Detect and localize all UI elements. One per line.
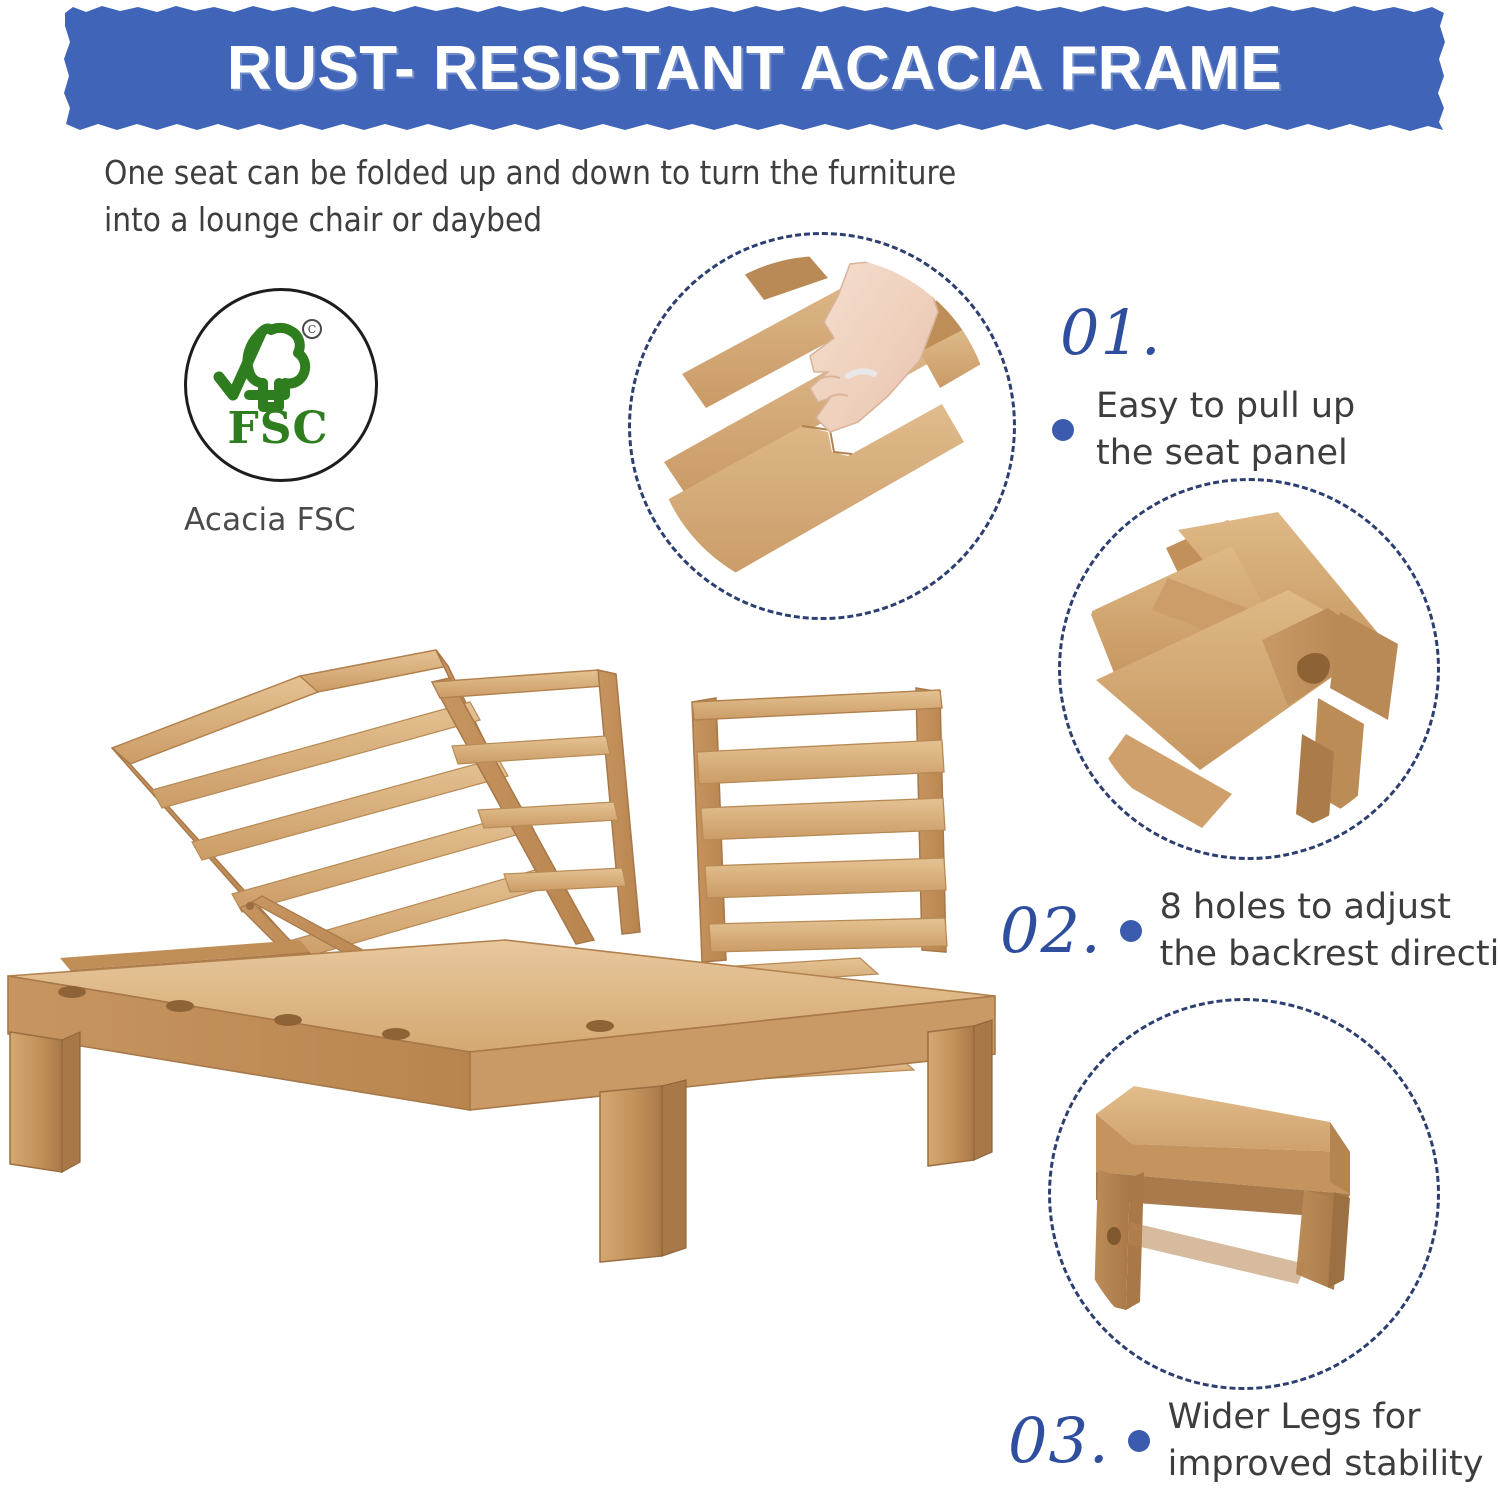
- callout-number-3: 03.: [1008, 1410, 1110, 1472]
- fsc-tree-checkmark-icon: C FSC: [187, 291, 369, 473]
- callout-photo-3: [1048, 998, 1440, 1390]
- subtitle-line-1: One seat can be folded up and down to tu…: [104, 150, 1114, 197]
- callout-label-3-line1: Wider Legs for: [1168, 1397, 1421, 1437]
- bullet-dot-1: [1052, 419, 1074, 441]
- callout-label-3-line2: improved stability: [1168, 1444, 1484, 1484]
- subtitle-line-2: into a lounge chair or daybed: [104, 197, 1114, 244]
- callout-photo-2: [1058, 478, 1440, 860]
- upright-backrest-panel: [692, 688, 947, 962]
- callout-label-2: 8 holes to adjust the backrest direction: [1160, 884, 1500, 979]
- callout-label-1: Easy to pull up the seat panel: [1096, 383, 1355, 478]
- callout-label-3: Wider Legs for improved stability: [1168, 1394, 1484, 1488]
- photo-backrest-adjustment-holes: [1082, 502, 1416, 836]
- page-title: RUST- RESISTANT ACACIA FRAME: [62, 4, 1447, 132]
- header-banner: RUST- RESISTANT ACACIA FRAME: [62, 4, 1447, 132]
- fsc-wordmark: FSC: [227, 403, 328, 454]
- daybed-illustration: [0, 640, 1010, 1300]
- photo-hand-lifting-seat-panel: [652, 256, 992, 596]
- copyright-glyph: C: [308, 323, 316, 336]
- photo-wide-leg-joint: [1072, 1022, 1416, 1366]
- callout-text-1: 01. Easy to pull up the seat panel: [1052, 296, 1492, 478]
- callout-label-2-line1: 8 holes to adjust: [1160, 887, 1451, 927]
- callout-number-2: 02.: [1000, 900, 1102, 962]
- fsc-logo-circle: C FSC: [184, 288, 378, 482]
- callout-number-1: 01.: [1060, 296, 1492, 369]
- callout-text-2: 02. 8 holes to adjust the backrest direc…: [1000, 884, 1500, 979]
- bullet-dot-2: [1120, 920, 1142, 942]
- callout-photo-1: [628, 232, 1016, 620]
- callout-label-2-line2: the backrest direction: [1160, 934, 1500, 974]
- callout-text-3: 03. Wider Legs for improved stability: [1008, 1394, 1500, 1488]
- callout-label-1-line1: Easy to pull up: [1096, 386, 1355, 426]
- subtitle-text: One seat can be folded up and down to tu…: [104, 150, 1114, 244]
- product-hero-image: [0, 640, 1010, 1300]
- callout-label-1-line2: the seat panel: [1096, 433, 1348, 473]
- infographic-page: RUST- RESISTANT ACACIA FRAME One seat ca…: [0, 0, 1500, 1488]
- fsc-certification-badge: C FSC Acacia FSC: [182, 288, 422, 538]
- bullet-dot-3: [1128, 1430, 1150, 1452]
- fsc-caption: Acacia FSC: [182, 502, 422, 538]
